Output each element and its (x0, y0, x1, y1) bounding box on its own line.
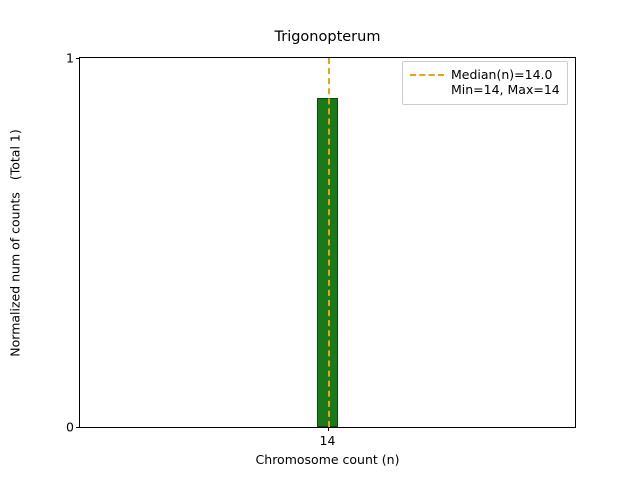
x-axis-label: Chromosome count (n) (79, 452, 576, 467)
y-axis-label: Normalized num of counts (Total 1) (8, 129, 23, 356)
legend-line-sample (410, 67, 444, 84)
y-axis-label-holder: Normalized num of counts (Total 1) (0, 57, 30, 428)
plot-axes: 0114 (79, 57, 576, 428)
legend-text-block: Median(n)=14.0 Min=14, Max=14 (451, 67, 560, 98)
x-tick-mark (328, 427, 329, 431)
legend-row: Median(n)=14.0 Min=14, Max=14 (410, 67, 560, 98)
x-tick-label: 14 (320, 433, 336, 448)
y-tick-label: 0 (66, 420, 74, 435)
chart-legend: Median(n)=14.0 Min=14, Max=14 (402, 61, 568, 105)
chart-title: Trigonopterum (79, 29, 576, 45)
y-tick-mark (76, 58, 80, 59)
legend-label-range: Min=14, Max=14 (451, 82, 560, 97)
legend-label-median: Median(n)=14.0 (451, 67, 560, 82)
plot-inner-canvas (80, 58, 575, 427)
matplotlib-figure: Trigonopterum Normalized num of counts (… (0, 0, 640, 480)
y-tick-label: 1 (66, 51, 74, 66)
median-line (328, 58, 330, 427)
y-tick-mark (76, 427, 80, 428)
median-dash-icon (410, 74, 444, 76)
